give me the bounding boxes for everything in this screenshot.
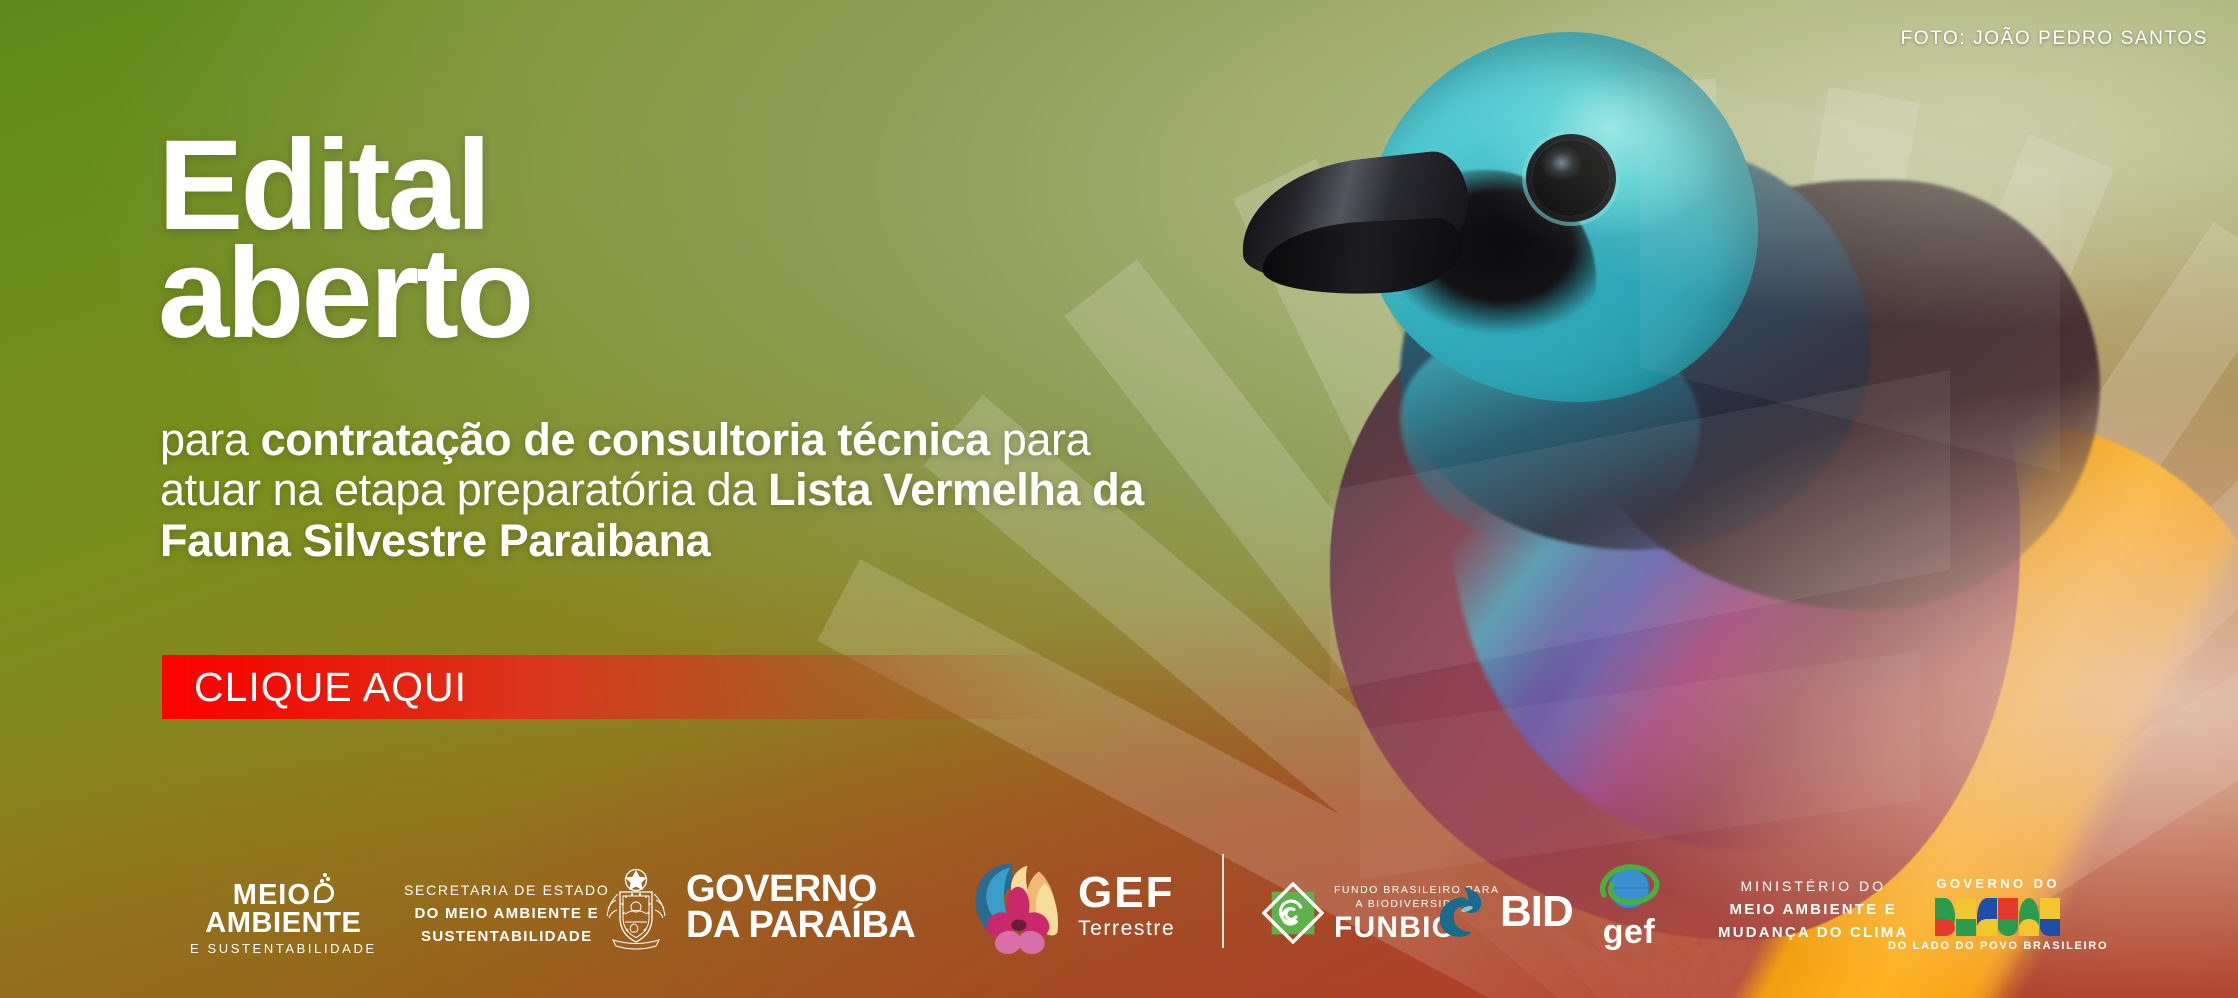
brasil-block [2019, 898, 2039, 936]
paraiba-wordmark: GOVERNO DA PARAÍBA [686, 871, 915, 944]
brasil-block-half [1935, 919, 1955, 936]
gef-terrestre-name: GEF [1078, 871, 1175, 915]
secretaria-line1: SECRETARIA DE ESTADO [404, 882, 609, 898]
page-title: Edital aberto [158, 132, 531, 347]
paraiba-coat-of-arms-icon [600, 858, 672, 956]
subtitle-part-0: para [160, 414, 261, 465]
meio-ambiente-line3: E SUSTENTABILIDADE [190, 941, 377, 956]
brasil-block-half [2019, 919, 2039, 936]
leaf-icon [314, 883, 334, 903]
brasil-block-half [1977, 919, 1997, 936]
paraiba-line1: GOVERNO [686, 871, 915, 907]
gef-terrestre-sub: Terrestre [1078, 917, 1175, 941]
meio-ambiente-line2: AMBIENTE [205, 909, 361, 937]
brasil-block [1935, 898, 1955, 936]
ministerio-line2: MEIO AMBIENTE E [1730, 899, 1897, 922]
bid-wordmark: BID [1500, 887, 1573, 937]
governo-brasil-top: GOVERNO DO [1936, 876, 2060, 891]
brasil-block [1956, 898, 1976, 936]
logo-meio-ambiente[interactable]: MEIO AMBIENTE E SUSTENTABILIDADE [190, 882, 377, 956]
logo-governo-brasil[interactable]: GOVERNO DO DO LADO DO POVO BRASILEIRO [1888, 876, 2108, 952]
paraiba-line2: DA PARAÍBA [686, 907, 915, 943]
logo-strip: MEIO AMBIENTE E SUSTENTABILIDADE SECRETA… [0, 850, 2238, 970]
ministerio-line3: MUDANÇA DO CLIMA [1718, 922, 1908, 945]
logo-secretaria-estado: SECRETARIA DE ESTADO DO MEIO AMBIENTE E … [404, 882, 609, 948]
secretaria-line2: DO MEIO AMBIENTE E [414, 903, 599, 926]
logo-ministerio-meio-ambiente: MINISTÉRIO DO MEIO AMBIENTE E MUDANÇA DO… [1718, 878, 1908, 944]
ministerio-line1: MINISTÉRIO DO [1740, 878, 1886, 894]
gef-wordmark: gef [1603, 913, 1656, 952]
logo-governo-paraiba[interactable]: GOVERNO DA PARAÍBA [600, 858, 915, 956]
logo-bid[interactable]: BID [1434, 884, 1573, 940]
brasil-block-half [1998, 919, 2018, 936]
headline-line-2: aberto [158, 240, 531, 348]
brasil-block [1998, 898, 2018, 936]
gef-globe-icon [1598, 861, 1660, 917]
brasil-block-half [1956, 919, 1976, 936]
subtitle: para contratação de consultoria técnica … [160, 415, 1160, 566]
cta-label: CLIQUE AQUI [162, 664, 467, 711]
meio-ambiente-row: MEIO [233, 882, 334, 909]
subtitle-part-1: contratação de consultoria técnica [261, 414, 990, 465]
governo-brasil-bottom: DO LADO DO POVO BRASILEIRO [1888, 940, 2108, 952]
logo-divider [1222, 854, 1224, 948]
brasil-wordmark [1935, 896, 2061, 936]
secretaria-line3: SUSTENTABILIDADE [421, 926, 592, 949]
campaign-banner: FOTO: JOÃO PEDRO SANTOS Edital aberto pa… [0, 0, 2238, 998]
photo-credit: FOTO: JOÃO PEDRO SANTOS [1901, 28, 2208, 50]
logo-gef[interactable]: gef [1598, 861, 1660, 952]
gef-terrestre-mark-icon [968, 858, 1064, 954]
funbio-spiral-icon [1262, 882, 1324, 944]
brasil-block-half [2040, 919, 2060, 936]
bid-leaf-icon [1434, 884, 1490, 940]
clique-aqui-button[interactable]: CLIQUE AQUI [162, 655, 1067, 719]
gef-terrestre-wordmark: GEF Terrestre [1078, 871, 1175, 941]
brasil-block [2040, 898, 2060, 936]
brasil-block [1977, 898, 1997, 936]
meio-ambiente-line1: MEIO [233, 882, 311, 909]
logo-gef-terrestre[interactable]: GEF Terrestre [968, 858, 1175, 954]
